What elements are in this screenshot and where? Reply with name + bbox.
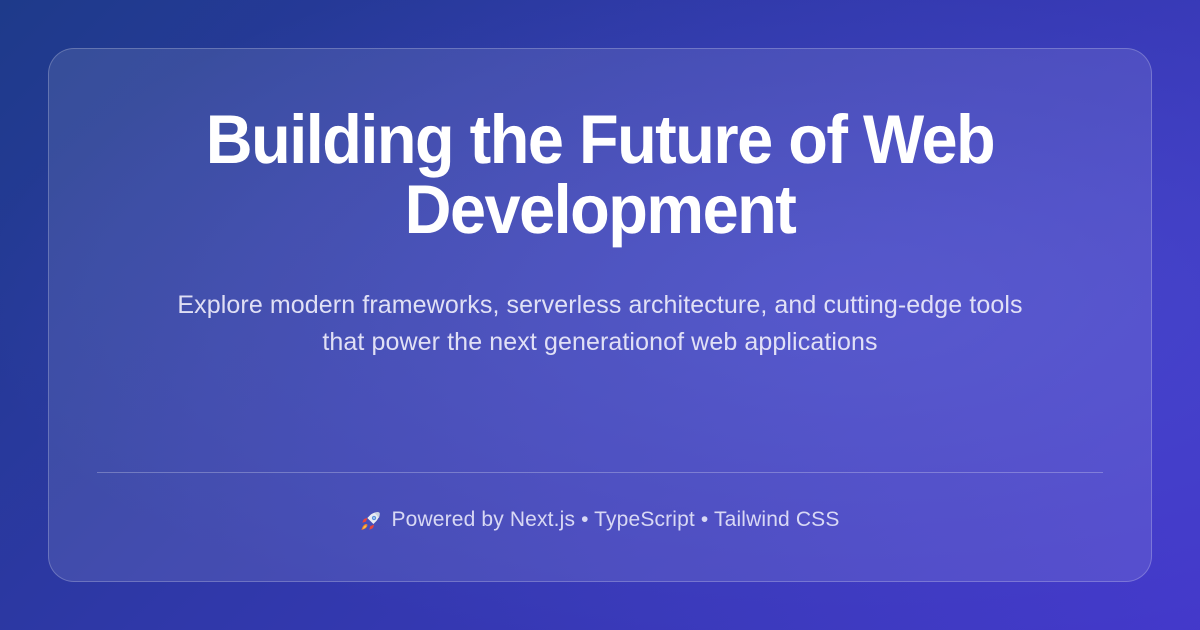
card-body: Building the Future of Web Development E… [97, 97, 1103, 361]
card-spacer [97, 361, 1103, 472]
page-title: Building the Future of Web Development [177, 105, 1023, 245]
footer-divider [97, 472, 1103, 473]
tech-stack-footer: Powered by Next.js • TypeScript • Tailwi… [97, 507, 1103, 533]
footer-text: Powered by Next.js • TypeScript • Tailwi… [391, 507, 839, 533]
footer-zone: Powered by Next.js • TypeScript • Tailwi… [97, 472, 1103, 581]
content-card: Building the Future of Web Development E… [48, 48, 1152, 582]
og-image-canvas: Building the Future of Web Development E… [0, 0, 1200, 630]
rocket-icon [360, 510, 382, 532]
page-subtitle: Explore modern frameworks, serverless ar… [165, 287, 1035, 361]
